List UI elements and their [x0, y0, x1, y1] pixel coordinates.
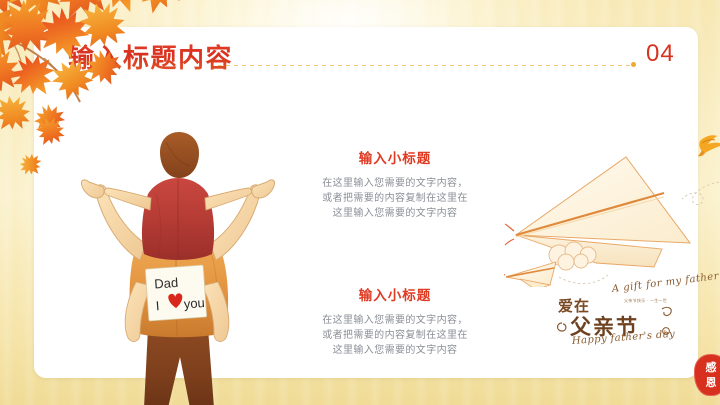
- title-divider: [218, 65, 632, 66]
- logo-swirl-right: [662, 307, 671, 315]
- maple-leaf: [0, 88, 38, 140]
- bird-icon: [698, 135, 720, 156]
- block-2-line-1: 在这里输入您需要的文字内容，: [280, 313, 510, 328]
- paper-plane-illustration: [504, 127, 720, 287]
- svg-text:Dad: Dad: [154, 275, 179, 292]
- block-1-line-3: 这里输入您需要的文字内容: [280, 206, 510, 221]
- bird-trail: [682, 181, 720, 204]
- father-and-child-illustration: Dad I you: [56, 132, 296, 405]
- seal-char-1: 感: [694, 359, 720, 375]
- block-1-line-1: 在这里输入您需要的文字内容，: [280, 176, 510, 191]
- svg-text:you: you: [183, 295, 205, 311]
- maple-leaf: [82, 0, 159, 22]
- content-card: 输入标题内容 04 输入小标题 在这里输入您需要的文字内容， 或者把需要的内容复…: [34, 27, 698, 378]
- block-2-subtitle: 输入小标题: [280, 284, 510, 304]
- maple-leaf: [0, 40, 28, 104]
- fathers-day-logo: A gift for my father 父亲节快乐 · 一生一世 爱在 父亲节…: [554, 279, 699, 359]
- title-divider-dot: [631, 62, 636, 67]
- block-1-subtitle: 输入小标题: [280, 147, 510, 167]
- logo-english-small: 父亲节快乐 · 一生一世: [624, 298, 667, 304]
- page-title: 输入标题内容: [68, 38, 233, 75]
- small-paper-plane: [504, 262, 556, 287]
- father-right-hand: [252, 180, 275, 198]
- maple-leaf: [0, 0, 80, 28]
- father-legs: [144, 328, 214, 405]
- seal-char-2: 恩: [694, 374, 720, 390]
- block-2-line-2: 或者把需要的内容复制在这里在: [280, 328, 510, 343]
- child-head: [160, 132, 199, 178]
- gratitude-seal-stamp: 感 恩: [694, 354, 720, 396]
- dad-love-you-note: Dad I you: [145, 265, 206, 321]
- logo-swirl-left: [558, 323, 566, 331]
- text-block-2: 输入小标题 在这里输入您需要的文字内容， 或者把需要的内容复制在这里在 这里输入…: [280, 284, 510, 358]
- maple-leaf: [0, 0, 33, 73]
- maple-leaf: [127, 0, 189, 19]
- block-2-line-3: 这里输入您需要的文字内容: [280, 343, 510, 358]
- father-left-hand: [81, 180, 104, 198]
- block-1-line-2: 或者把需要的内容复制在这里在: [280, 191, 510, 206]
- slide-canvas: 输入标题内容 04 输入小标题 在这里输入您需要的文字内容， 或者把需要的内容复…: [0, 0, 720, 405]
- text-block-1: 输入小标题 在这里输入您需要的文字内容， 或者把需要的内容复制在这里在 这里输入…: [280, 147, 510, 221]
- maple-leaf: [0, 0, 39, 31]
- page-number: 04: [646, 40, 675, 68]
